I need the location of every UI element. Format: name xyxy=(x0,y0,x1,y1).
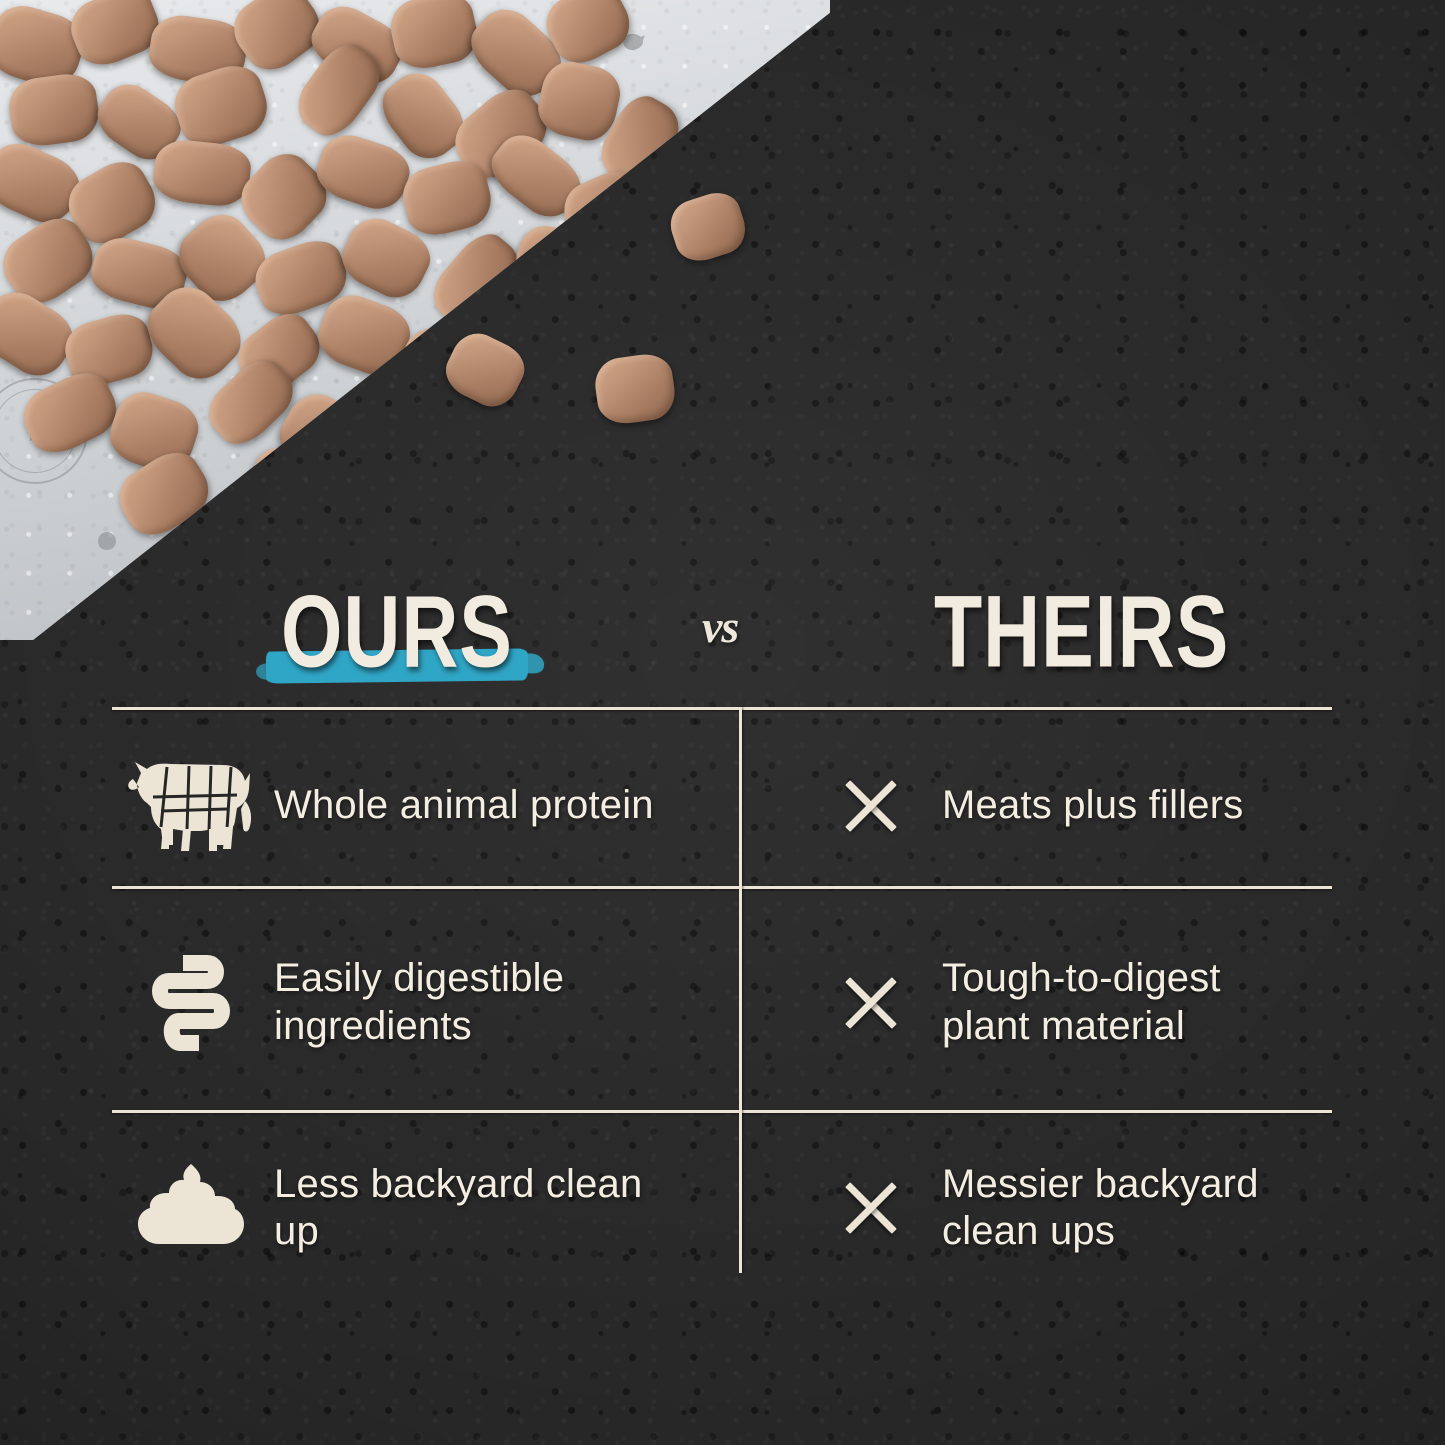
theirs-row-2-text: Tough-to-digest plant material xyxy=(942,955,1302,1049)
table-row: Whole animal protein xyxy=(112,728,732,883)
ours-row-2-text: Easily digestible ingredients xyxy=(274,955,704,1049)
ours-row-1-text: Whole animal protein xyxy=(274,782,654,829)
cow-icon xyxy=(112,759,270,853)
x-mark-icon xyxy=(800,1179,942,1237)
table-row: Less backyard clean up xyxy=(112,1128,732,1288)
table-divider-row2 xyxy=(112,1110,1332,1113)
table-row: Meats plus fillers xyxy=(800,728,1360,883)
table-row: Tough-to-digest plant material xyxy=(800,900,1360,1105)
theirs-row-1-text: Meats plus fillers xyxy=(942,782,1243,829)
table-column-divider xyxy=(739,707,742,1273)
theirs-row-3-text: Messier backyard clean ups xyxy=(942,1161,1312,1255)
table-divider-row1 xyxy=(112,886,1332,889)
comparison-infographic: A xyxy=(0,0,1445,1445)
x-mark-icon xyxy=(800,974,942,1032)
x-mark-icon xyxy=(800,777,942,835)
poop-icon xyxy=(112,1162,270,1254)
intestine-icon xyxy=(112,953,270,1053)
ours-row-3-text: Less backyard clean up xyxy=(274,1161,654,1255)
table-row: Easily digestible ingredients xyxy=(112,900,732,1105)
table-row: Messier backyard clean ups xyxy=(800,1128,1360,1288)
table-divider-top xyxy=(112,707,1332,710)
comparison-table: Whole animal protein Meats plus fillers … xyxy=(0,0,1445,1445)
